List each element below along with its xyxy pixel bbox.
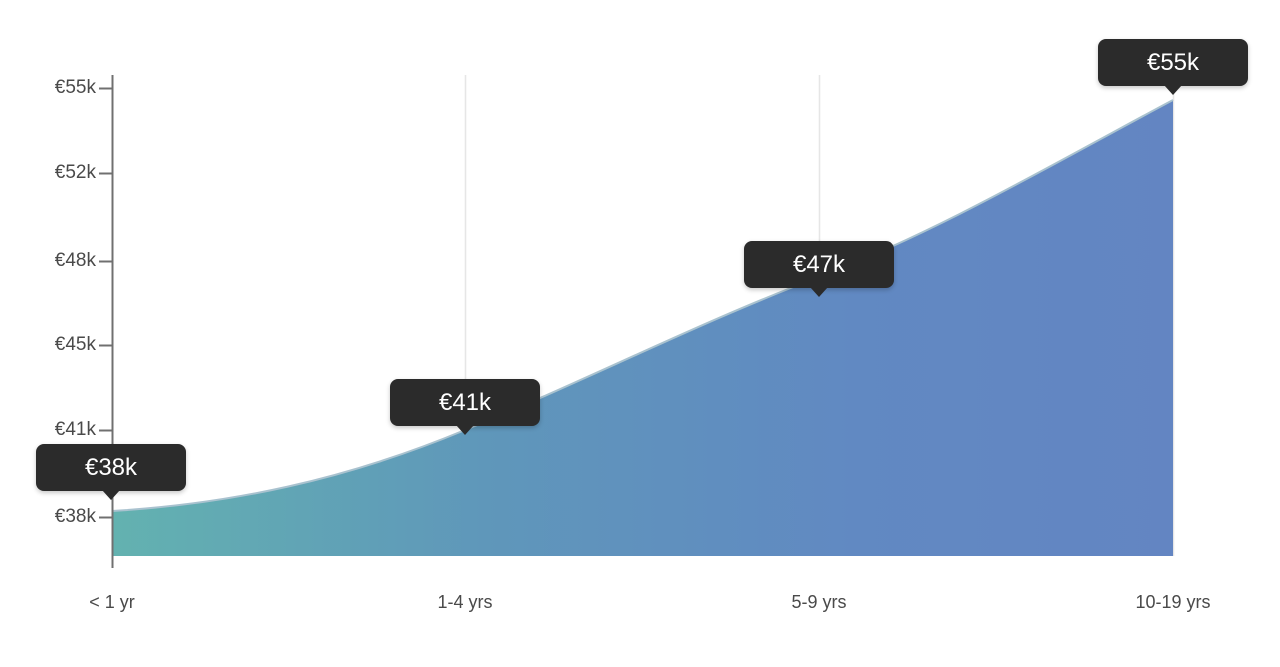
y-tick-label-45k: €45k — [55, 334, 96, 356]
y-tick-label-55k: €55k — [55, 77, 96, 99]
x-tick-label-1-4-yrs: 1-4 yrs — [437, 592, 492, 613]
y-tick-label-48k: €48k — [55, 250, 96, 272]
tooltip-pointer-icon — [102, 490, 120, 500]
y-tick-label-41k: €41k — [55, 419, 96, 441]
tooltip-pointer-icon — [1164, 85, 1182, 95]
x-tick-label-5-9-yrs: 5-9 yrs — [791, 592, 846, 613]
tooltip-value-label: €38k — [36, 444, 186, 491]
tooltip-value-label: €47k — [744, 241, 894, 288]
x-tick-label-lt-1-yr: < 1 yr — [89, 592, 135, 613]
tooltip-value-label: €55k — [1098, 39, 1248, 86]
x-tick-label-10-19-yrs: 10-19 yrs — [1135, 592, 1210, 613]
data-point-tooltip-5-9-yrs[interactable]: €47k — [744, 241, 894, 288]
chart-canvas — [0, 0, 1280, 667]
y-tick-label-52k: €52k — [55, 162, 96, 184]
tooltip-pointer-icon — [456, 425, 474, 435]
tooltip-value-label: €41k — [390, 379, 540, 426]
data-point-tooltip-10-19-yrs[interactable]: €55k — [1098, 39, 1248, 86]
data-point-tooltip-1-4-yrs[interactable]: €41k — [390, 379, 540, 426]
data-point-tooltip-lt-1-yr[interactable]: €38k — [36, 444, 186, 491]
area-series-path — [112, 100, 1173, 556]
tooltip-pointer-icon — [810, 287, 828, 297]
y-tick-label-38k: €38k — [55, 506, 96, 528]
salary-by-experience-area-chart: €55k €52k €48k €45k €41k €38k < 1 yr 1-4… — [0, 0, 1280, 667]
y-axis-label-group: €55k €52k €48k €45k €41k €38k — [0, 0, 96, 667]
